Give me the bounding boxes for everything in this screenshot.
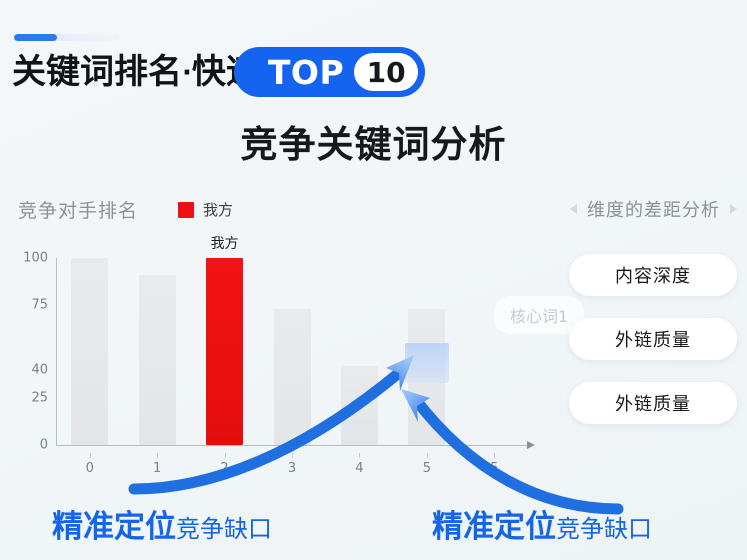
x-axis-tick [157,453,158,458]
y-axis-tick-label: 75 [14,297,48,312]
dimension-pill-label: 外链质量 [615,390,691,416]
chart-section-title: 竞争对手排名 [18,196,138,223]
page-title: 竞争关键词分析 [0,114,747,168]
dimension-pill-1[interactable]: 外链质量 [569,318,737,360]
gap-highlight-block [405,343,449,383]
x-axis-arrow-icon [527,441,535,449]
bar[interactable] [274,309,311,446]
bar[interactable] [71,258,108,445]
header-row: 关键词排名·快速 TOP 10 [12,46,425,98]
bar-highlight[interactable] [206,258,243,445]
chevron-left-icon[interactable] [570,204,577,214]
caption-right-weak: 竞争缺口 [556,509,652,544]
dimension-pill-2[interactable]: 外链质量 [569,382,737,424]
header-kicker: 关键词排名·快速 [12,55,260,89]
x-axis-tick [494,453,495,458]
bar-chart: 0254075100 0123455我方 [14,250,539,455]
x-axis-tick-label: 1 [153,461,161,476]
x-axis-tick [427,453,428,458]
x-axis-line [56,445,528,446]
chart-legend: 我方 [178,199,233,220]
y-axis-tick-label: 25 [14,391,48,406]
bar[interactable] [139,275,176,445]
legend-label: 我方 [203,199,233,220]
dimension-pill-0[interactable]: 内容深度 [569,254,737,296]
y-axis-tick-label: 40 [14,363,48,378]
dimension-pill-list: 内容深度外链质量外链质量 [569,254,737,424]
panel-header-title: 维度的差距分析 [587,196,720,222]
x-axis-tick-label: 5 [490,461,498,476]
x-axis-tick-label: 0 [86,461,94,476]
top-badge-word: TOP [268,53,344,92]
bar-group: 0123455我方 [56,258,528,445]
legend-swatch-icon [178,202,194,218]
header-kicker-separator: · [182,58,192,88]
x-axis-tick [359,453,360,458]
caption-left-weak: 竞争缺口 [176,509,272,544]
x-axis-tick [90,453,91,458]
bar-highlight-label: 我方 [211,233,239,253]
top-badge-number: 10 [354,53,418,91]
header-kicker-text: 关键词排名 [12,52,182,92]
x-axis-tick [225,453,226,458]
x-axis-tick-label: 4 [355,461,363,476]
caption-right-strong: 精准定位 [432,501,556,546]
x-axis-tick-label: 5 [423,461,431,476]
y-axis-tick-label: 0 [14,438,48,453]
dimension-pill-label: 外链质量 [615,326,691,352]
caption-left: 精准定位 竞争缺口 [52,501,272,546]
x-axis-tick [292,453,293,458]
y-axis-tick-label: 100 [14,251,48,266]
chevron-right-icon[interactable] [730,204,737,214]
bar[interactable] [341,366,378,445]
dimension-pill-label: 内容深度 [615,262,691,288]
x-axis-tick-label: 2 [220,461,228,476]
caption-left-strong: 精准定位 [52,501,176,546]
y-axis: 0254075100 [14,250,48,445]
x-axis-tick-label: 3 [288,461,296,476]
panel-header: 维度的差距分析 [570,196,737,222]
progress-bar-fill [14,34,57,41]
top-badge[interactable]: TOP 10 [234,47,425,97]
progress-bar [14,34,118,41]
chart-section-header: 竞争对手排名 我方 [18,196,233,223]
caption-right: 精准定位 竞争缺口 [432,501,652,546]
